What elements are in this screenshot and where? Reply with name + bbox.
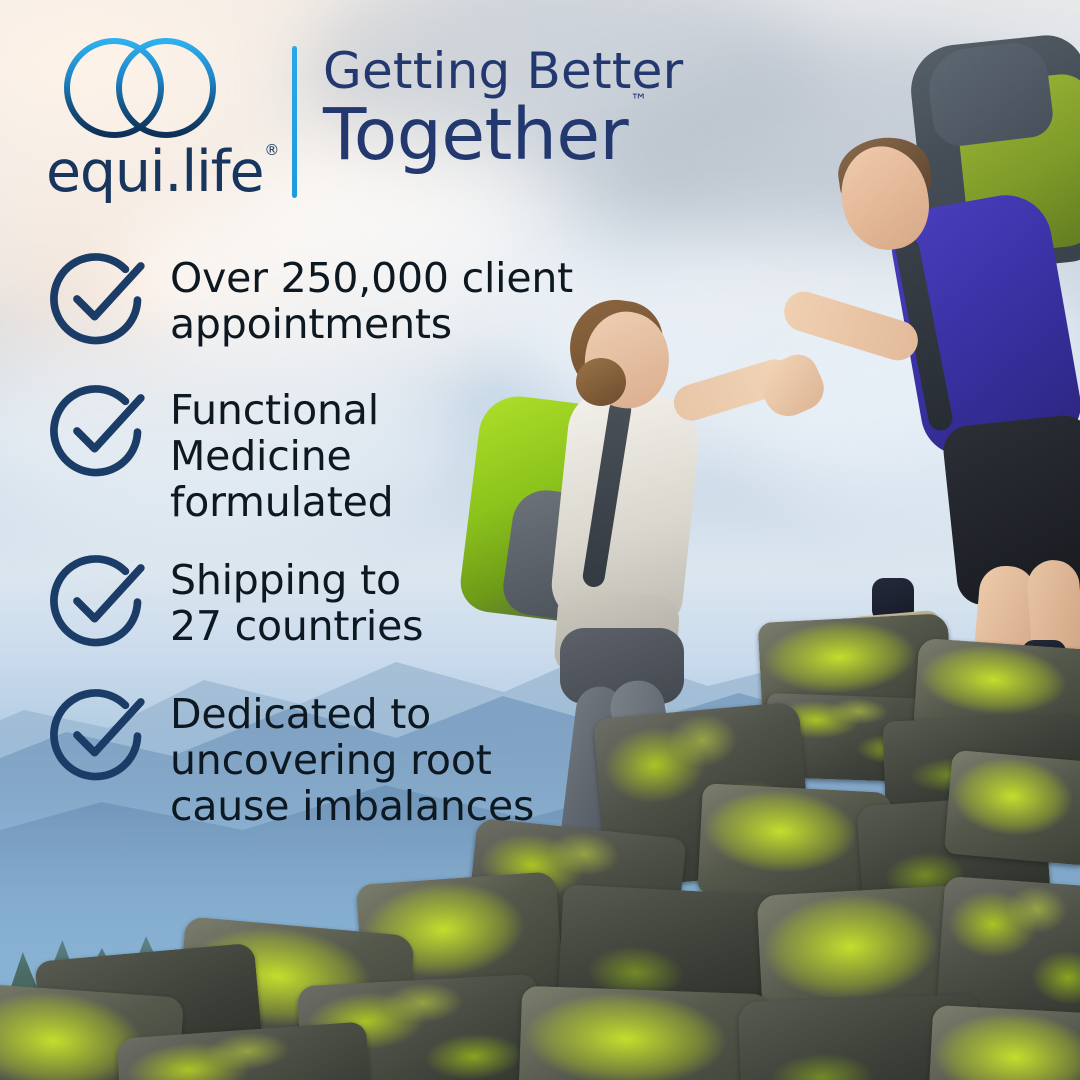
tagline-line-2: Together™ [323, 99, 683, 171]
list-item-line: Medicine [170, 434, 393, 480]
list-item-line: appointments [170, 302, 573, 348]
list-item-line: Shipping to [170, 558, 423, 604]
tagline-line-1: Getting Better [323, 46, 683, 97]
list-item-text: Over 250,000 client appointments [170, 250, 573, 348]
trademark-symbol: ™ [630, 91, 647, 111]
check-circle-icon [44, 680, 154, 790]
registered-symbol: ® [264, 141, 278, 159]
benefits-list: Over 250,000 client appointments Functio… [44, 250, 604, 857]
marketing-image: equi.life® Getting Better Together™ Over… [0, 0, 1080, 1080]
list-item-line: Over 250,000 client [170, 256, 573, 302]
list-item-text: Shipping to 27 countries [170, 552, 423, 650]
check-circle-icon [44, 376, 154, 486]
vertical-divider [292, 46, 297, 198]
overlay-content: equi.life® Getting Better Together™ Over… [0, 0, 1080, 1080]
list-item: Functional Medicine formulated [44, 382, 604, 526]
list-item-text: Dedicated to uncovering root cause imbal… [170, 686, 534, 830]
list-item: Dedicated to uncovering root cause imbal… [44, 686, 604, 830]
header: equi.life® Getting Better Together™ [44, 28, 683, 201]
list-item-line: Functional [170, 388, 393, 434]
brand-logo[interactable]: equi.life® [44, 28, 270, 201]
logo-wordmark-text: equi.life [46, 139, 263, 205]
list-item-line: uncovering root [170, 738, 534, 784]
list-item-line: formulated [170, 480, 393, 526]
tagline: Getting Better Together™ [323, 28, 683, 171]
check-circle-icon [44, 244, 154, 354]
check-circle-icon [44, 546, 154, 656]
two-overlapping-circles-icon [60, 34, 220, 142]
list-item-line: cause imbalances [170, 784, 534, 830]
list-item: Shipping to 27 countries [44, 552, 604, 656]
list-item-line: Dedicated to [170, 692, 534, 738]
list-item-text: Functional Medicine formulated [170, 382, 393, 526]
logo-wordmark: equi.life® [46, 144, 270, 201]
list-item: Over 250,000 client appointments [44, 250, 604, 354]
tagline-line-2-text: Together [323, 93, 628, 176]
list-item-line: 27 countries [170, 604, 423, 650]
